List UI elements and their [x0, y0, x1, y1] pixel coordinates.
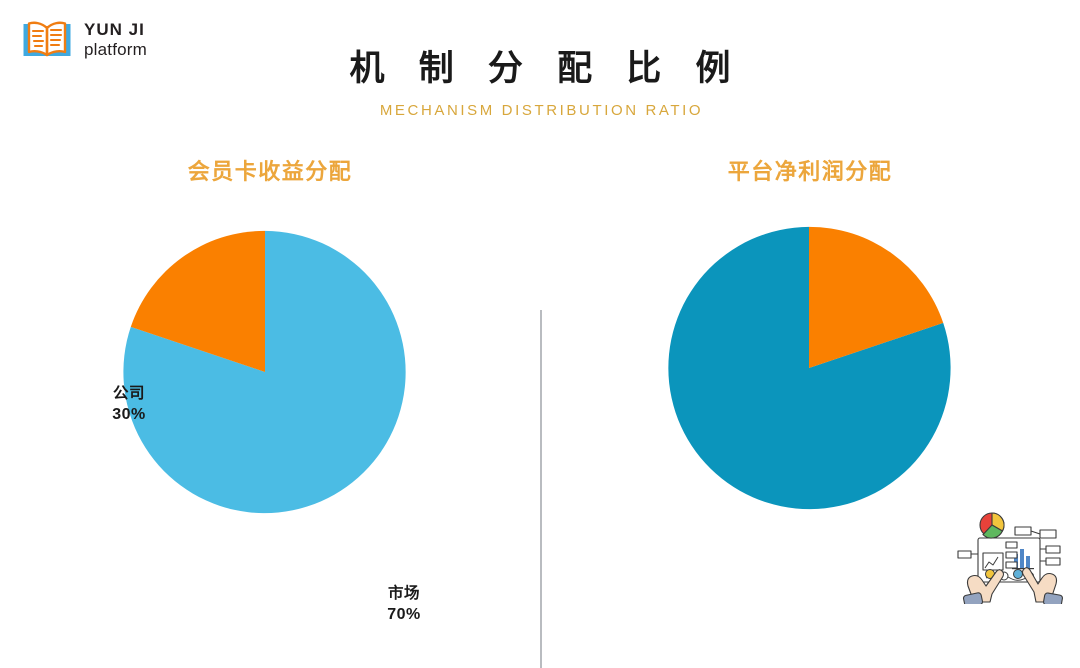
brand-name-line1: YUN JI — [84, 20, 147, 40]
page-title: 机 制 分 配 比 例 — [0, 40, 1080, 91]
pie-label-company-name: 公司 — [93, 383, 165, 404]
pie-label-company-value: 30% — [93, 404, 165, 426]
page-subtitle: MECHANISM DISTRIBUTION RATIO — [0, 102, 1080, 119]
charts-area: 会员卡收益分配 公司 30% 市场 70% 平台净利润分配 — [0, 140, 1080, 560]
chart-title-profit: 平台净利润分配 — [540, 154, 1080, 186]
chart-panel-profit: 平台净利润分配 平台运营者 30% 持有墨点会员 70% — [540, 140, 1080, 560]
vertical-divider — [540, 310, 542, 668]
data-analysis-illustration — [952, 508, 1072, 604]
chart-panel-membership: 会员卡收益分配 公司 30% 市场 70% — [0, 140, 540, 560]
slide-canvas: YUN JI platform 机 制 分 配 比 例 MECHANISM DI… — [0, 0, 1080, 608]
pie-chart-profit[interactable] — [665, 224, 953, 512]
chart-title-membership: 会员卡收益分配 — [0, 154, 540, 186]
page-title-block: 机 制 分 配 比 例 MECHANISM DISTRIBUTION RATIO — [0, 40, 1080, 119]
pie-label-market: 市场 70% — [371, 583, 437, 626]
pie-label-market-name: 市场 — [371, 583, 437, 604]
pie-label-company: 公司 30% — [93, 383, 165, 426]
pie-chart-membership[interactable] — [121, 228, 409, 516]
